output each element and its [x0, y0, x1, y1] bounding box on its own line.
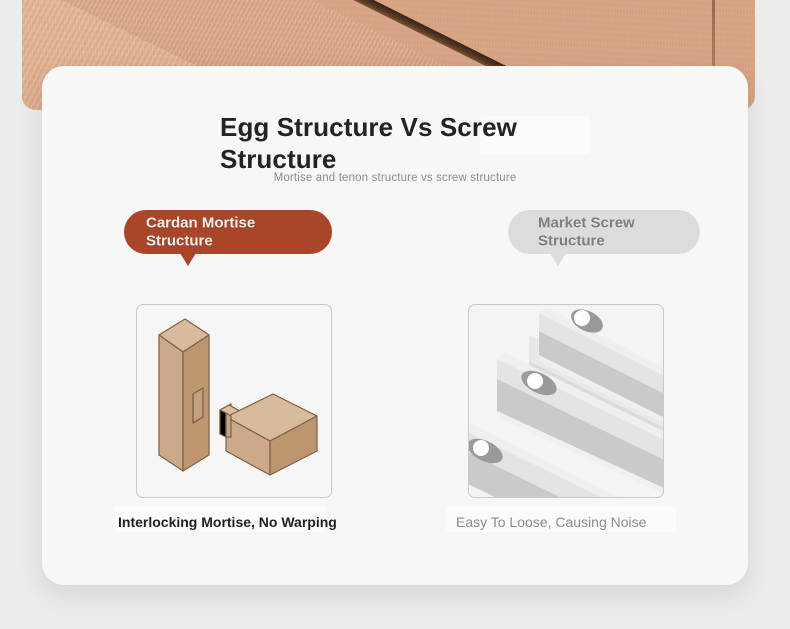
badge-cardan-mortise-structure[interactable]: Cardan Mortise Structure: [124, 210, 332, 254]
column-mortise: Cardan Mortise Structure: [94, 210, 394, 254]
comparison-card: Egg Structure Vs Screw Structure Mortise…: [42, 66, 748, 585]
screw-head-1: [574, 310, 590, 326]
badge-pointer-icon: [550, 253, 566, 266]
caption-screw: Easy To Loose, Causing Noise: [456, 514, 646, 530]
badge-market-screw-structure[interactable]: Market Screw Structure: [508, 210, 700, 254]
screwed-slats-illustration: [468, 304, 664, 498]
post-left-face: [159, 335, 183, 471]
caption-mortise: Interlocking Mortise, No Warping: [118, 514, 337, 530]
page-subtitle: Mortise and tenon structure vs screw str…: [42, 172, 748, 184]
badge-pointer-icon: [180, 253, 196, 266]
badge-label: Market Screw Structure: [538, 214, 728, 249]
tenon-neck: [226, 413, 231, 437]
column-screw: Market Screw Structure: [424, 210, 724, 254]
mortise-tenon-joint-illustration: [136, 304, 332, 498]
screw-head-3: [473, 440, 489, 456]
screw-head-2: [527, 373, 543, 389]
page-title: Egg Structure Vs Screw Structure: [220, 112, 550, 175]
badge-label: Cardan Mortise Structure: [146, 214, 356, 249]
